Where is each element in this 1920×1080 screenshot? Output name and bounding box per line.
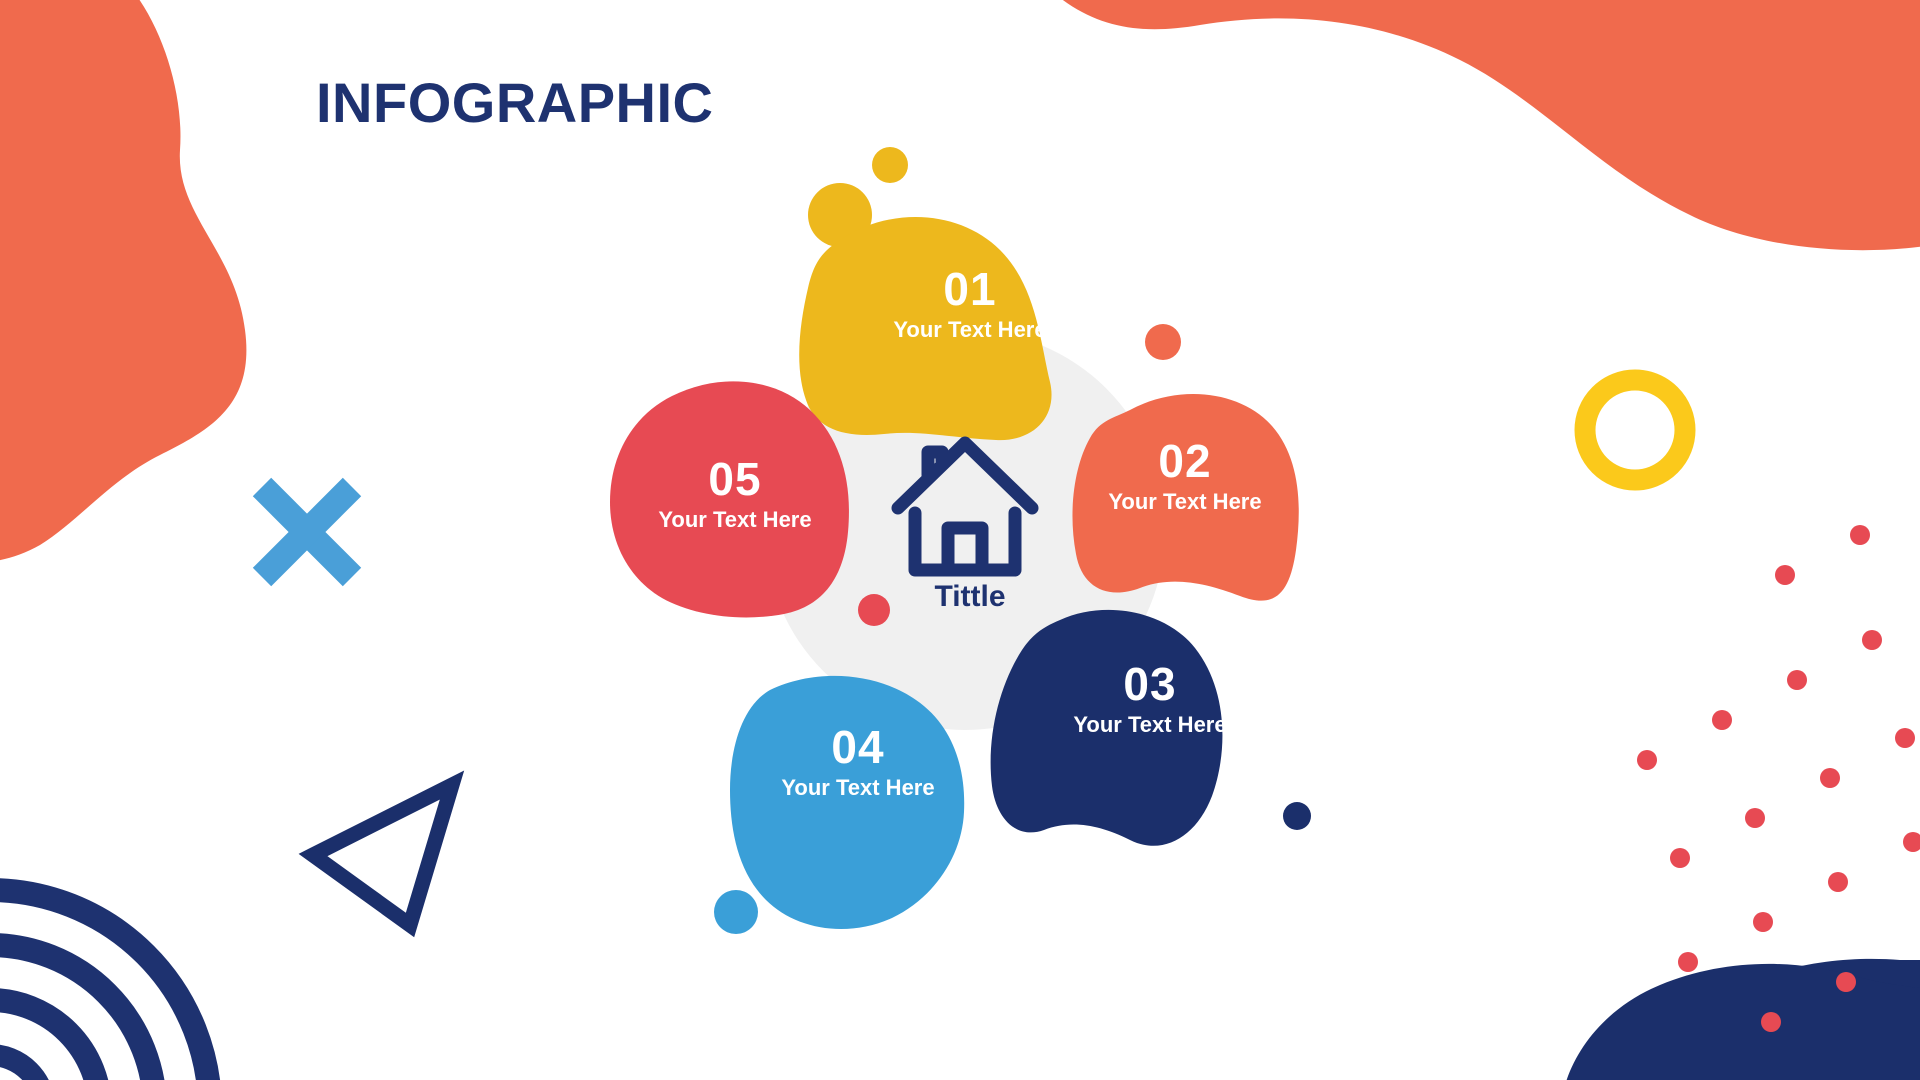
item-number-02: 02 [1085, 437, 1285, 485]
item-text-02: Your Text Here [1085, 485, 1285, 518]
item-number-03: 03 [1050, 660, 1250, 708]
item-text-05: Your Text Here [635, 503, 835, 536]
item-number-04: 04 [758, 723, 958, 771]
text-layer: INFOGRAPHIC 01 Your Text Here 02 Your Te… [0, 0, 1920, 1080]
item-label-05: 05 Your Text Here [635, 455, 835, 536]
item-label-04: 04 Your Text Here [758, 723, 958, 804]
item-number-01: 01 [870, 265, 1070, 313]
item-text-01: Your Text Here [870, 313, 1070, 346]
center-title: Tittle [870, 580, 1070, 614]
item-text-03: Your Text Here [1050, 708, 1250, 741]
infographic-slide: INFOGRAPHIC 01 Your Text Here 02 Your Te… [0, 0, 1920, 1080]
item-label-02: 02 Your Text Here [1085, 437, 1285, 518]
page-title: INFOGRAPHIC [316, 70, 714, 135]
item-label-03: 03 Your Text Here [1050, 660, 1250, 741]
item-text-04: Your Text Here [758, 771, 958, 804]
item-number-05: 05 [635, 455, 835, 503]
item-label-01: 01 Your Text Here [870, 265, 1070, 346]
